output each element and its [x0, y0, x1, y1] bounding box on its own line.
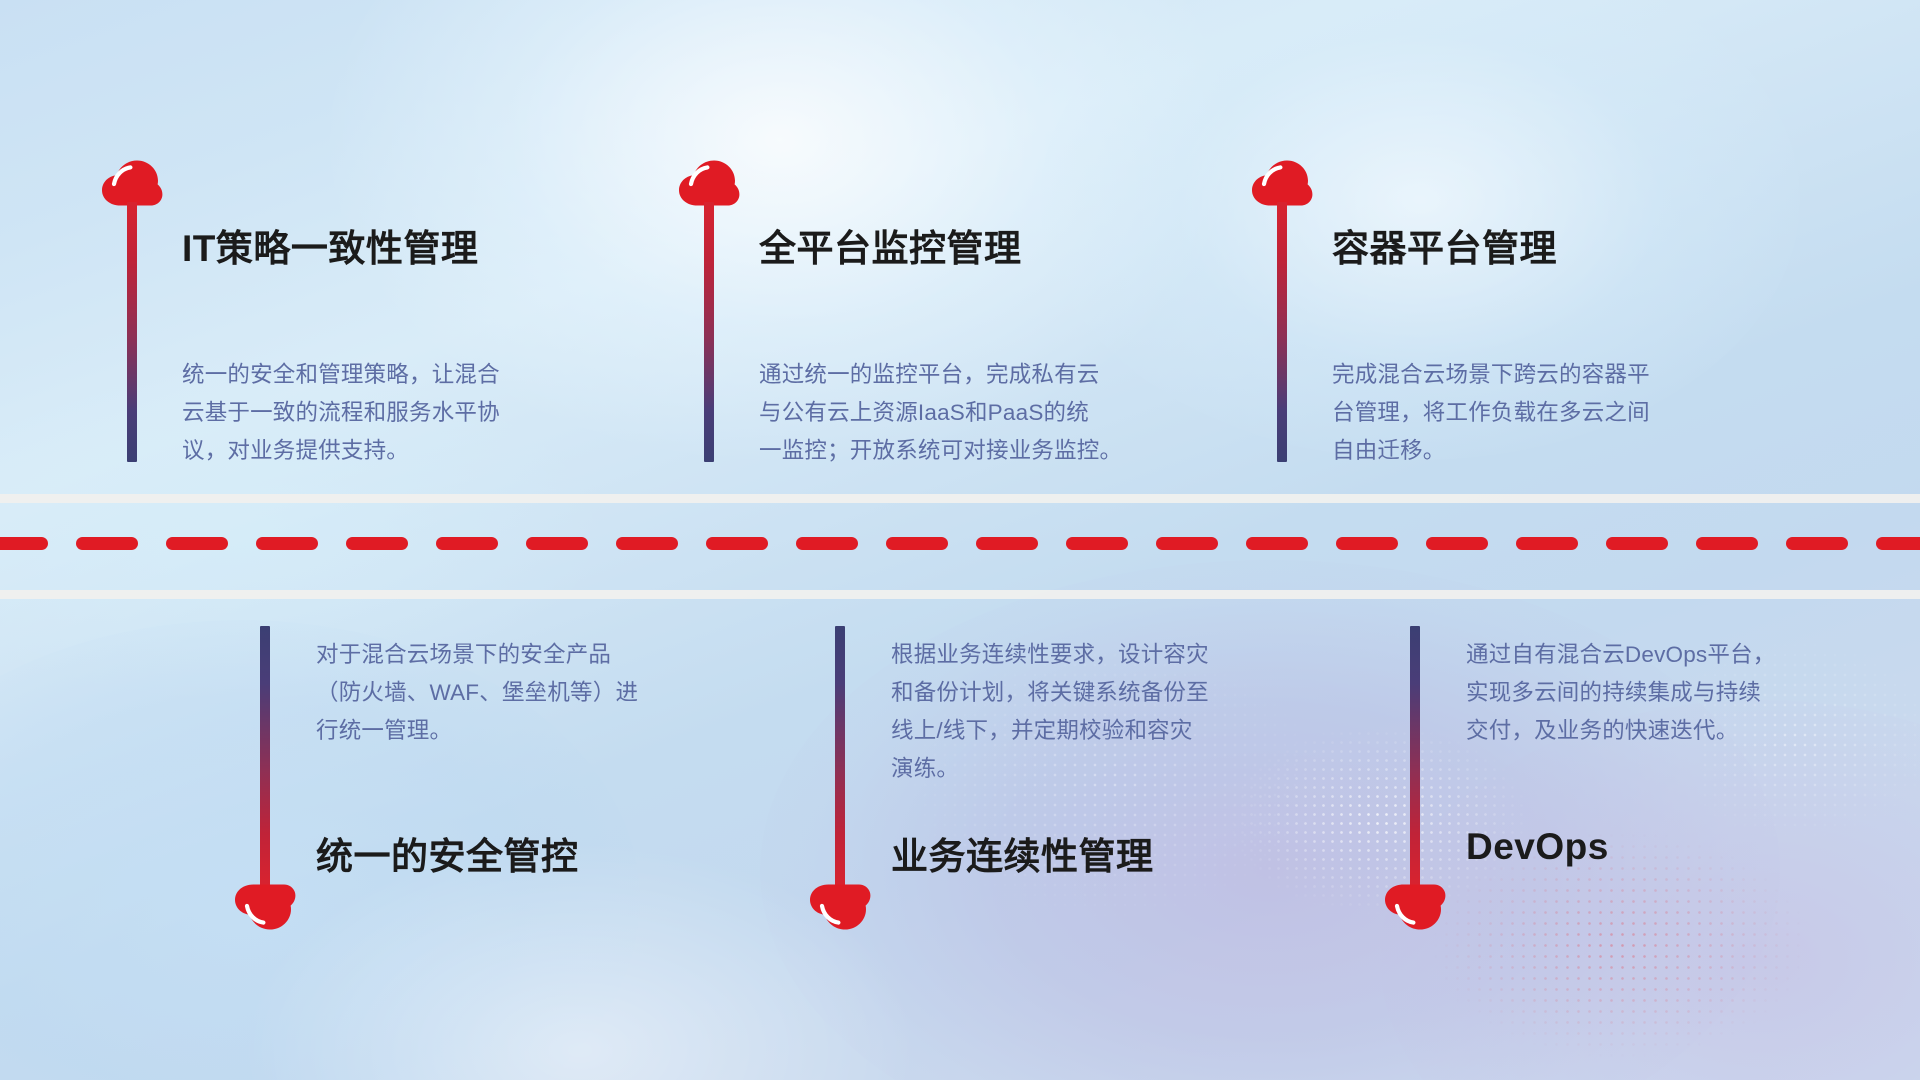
road-edge-bottom [0, 590, 1920, 599]
road-dash [1336, 537, 1398, 550]
road-dash [886, 537, 948, 550]
body-line: 演练。 [891, 750, 1281, 788]
body-line: 和备份计划，将关键系统备份至 [891, 674, 1281, 712]
column-body-text: 完成混合云场景下跨云的容器平 台管理，将工作负载在多云之间 自由迁移。 [1332, 356, 1722, 470]
body-line: 通过统一的监控平台，完成私有云 [759, 356, 1189, 394]
road-dash [1426, 537, 1488, 550]
body-line: 行统一管理。 [316, 712, 706, 750]
road-dash [976, 537, 1038, 550]
road-dash [1156, 537, 1218, 550]
body-line: 与公有云上资源IaaS和PaaS的统 [759, 394, 1189, 432]
column-stem [835, 626, 845, 886]
body-line: 实现多云间的持续集成与持续 [1466, 674, 1856, 712]
body-line: 台管理，将工作负载在多云之间 [1332, 394, 1722, 432]
column-stem [1410, 626, 1420, 886]
cloud-pin-icon [233, 884, 297, 930]
cloud-pin-icon [677, 160, 741, 206]
column-stem [1277, 202, 1287, 462]
column-stem [260, 626, 270, 886]
column-heading: 业务连续性管理 [891, 826, 1154, 880]
road-dash [1696, 537, 1758, 550]
cloud-pin-icon [1250, 160, 1314, 206]
road-dash [1786, 537, 1848, 550]
column-heading: IT策略一致性管理 [182, 218, 478, 272]
road-dash [1606, 537, 1668, 550]
body-line: （防火墙、WAF、堡垒机等）进 [316, 674, 706, 712]
column-body-text: 根据业务连续性要求，设计容灾 和备份计划，将关键系统备份至 线上/线下，并定期校… [891, 636, 1281, 788]
infographic-canvas: IT策略一致性管理 统一的安全和管理策略，让混合 云基于一致的流程和服务水平协 … [0, 0, 1920, 1080]
column-body-text: 通过自有混合云DevOps平台， 实现多云间的持续集成与持续 交付，及业务的快速… [1466, 636, 1856, 750]
road-dash [436, 537, 498, 550]
road-dash [76, 537, 138, 550]
road-dash [526, 537, 588, 550]
road-dashed-center-line [0, 537, 1920, 550]
column-body-text: 对于混合云场景下的安全产品 （防火墙、WAF、堡垒机等）进 行统一管理。 [316, 636, 706, 750]
body-line: 统一的安全和管理策略，让混合 [182, 356, 572, 394]
road-dash [166, 537, 228, 550]
body-line: 交付，及业务的快速迭代。 [1466, 712, 1856, 750]
body-line: 根据业务连续性要求，设计容灾 [891, 636, 1281, 674]
road-dash [1876, 537, 1920, 550]
column-heading: DevOps [1466, 826, 1609, 868]
road-dash [1066, 537, 1128, 550]
body-line: 线上/线下，并定期校验和容灾 [891, 712, 1281, 750]
column-body-text: 统一的安全和管理策略，让混合 云基于一致的流程和服务水平协 议，对业务提供支持。 [182, 356, 572, 470]
column-stem [704, 202, 714, 462]
road-dash [706, 537, 768, 550]
body-line: 完成混合云场景下跨云的容器平 [1332, 356, 1722, 394]
body-line: 云基于一致的流程和服务水平协 [182, 394, 572, 432]
body-line: 对于混合云场景下的安全产品 [316, 636, 706, 674]
body-line: 通过自有混合云DevOps平台， [1466, 636, 1856, 674]
column-body-text: 通过统一的监控平台，完成私有云 与公有云上资源IaaS和PaaS的统 一监控；开… [759, 356, 1189, 470]
cloud-pin-icon [100, 160, 164, 206]
road-dash [0, 537, 48, 550]
road-dash [1516, 537, 1578, 550]
road-dash [796, 537, 858, 550]
road-dash [256, 537, 318, 550]
column-heading: 统一的安全管控 [316, 826, 579, 880]
background-blob-lavender-right [1380, 700, 1920, 1080]
body-line: 议，对业务提供支持。 [182, 432, 572, 470]
column-heading: 容器平台管理 [1332, 218, 1557, 272]
cloud-pin-icon [808, 884, 872, 930]
road-edge-top [0, 494, 1920, 503]
column-stem [127, 202, 137, 462]
column-heading: 全平台监控管理 [759, 218, 1022, 272]
road-dash [346, 537, 408, 550]
cloud-pin-icon [1383, 884, 1447, 930]
road-dash [1246, 537, 1308, 550]
body-line: 自由迁移。 [1332, 432, 1722, 470]
road-dash [616, 537, 678, 550]
body-line: 一监控；开放系统可对接业务监控。 [759, 432, 1189, 470]
